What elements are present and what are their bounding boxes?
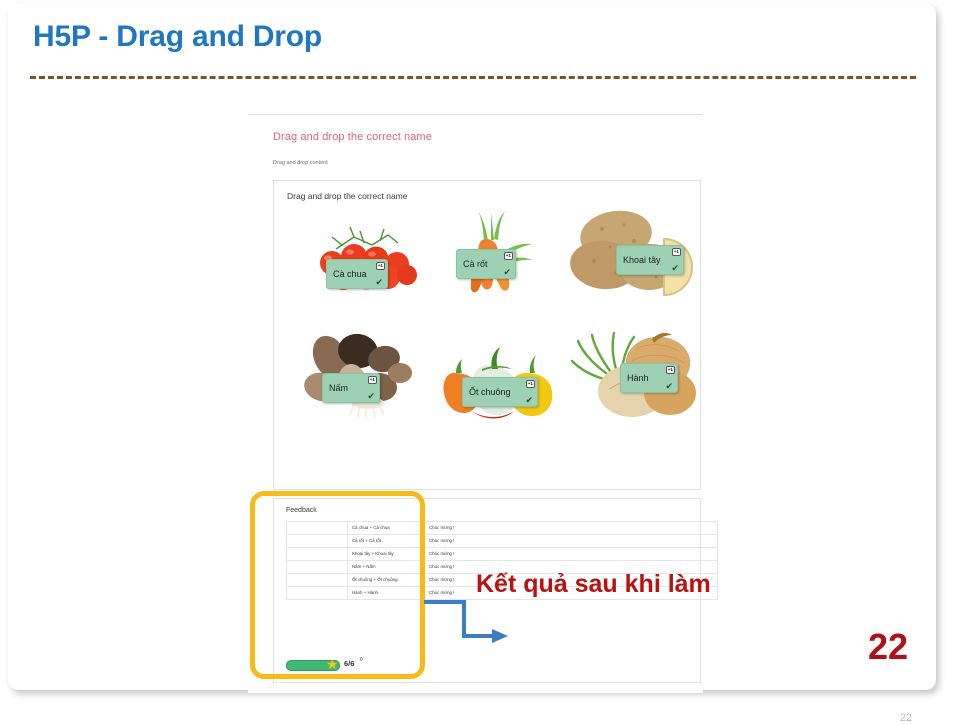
drop-label-text: Khoai tây [623, 255, 661, 265]
drop-label-text: Ốt chuông [469, 387, 511, 397]
feedback-message: Chúc mừng ! [425, 522, 718, 535]
slide-card: H5P - Drag and Drop Drag and drop the co… [8, 4, 936, 690]
title-divider [30, 76, 916, 79]
score-badge: +1 [672, 248, 681, 256]
drop-label-text: Cà chua [333, 269, 367, 279]
drop-label-bell-peppers[interactable]: Ốt chuông +1 ✔ [462, 377, 538, 407]
drop-label-carrots[interactable]: Cà rốt +1 ✔ [456, 249, 516, 279]
drop-zone-potatoes[interactable]: Khoai tây +1 ✔ [564, 203, 699, 301]
feedback-message: Chúc mừng ! [425, 535, 718, 548]
drop-label-potatoes[interactable]: Khoai tây +1 ✔ [616, 245, 684, 275]
score-badge: +1 [368, 376, 377, 384]
annotation-text: Kết quả sau khi làm [476, 570, 711, 599]
drop-zone-onions[interactable]: Hành +1 ✔ [566, 327, 698, 421]
score-badge: +1 [666, 366, 675, 374]
feedback-message: Chúc mừng ! [425, 548, 718, 561]
drop-label-text: Nấm [329, 383, 348, 393]
page-title: H5P - Drag and Drop [33, 20, 322, 54]
page-number-footer: 22 [900, 712, 912, 724]
drop-label-text: Hành [627, 373, 649, 383]
highlight-rectangle [250, 491, 425, 679]
drop-zone-carrots[interactable]: Cà rốt +1 ✔ [442, 211, 562, 299]
page-number: 22 [868, 626, 908, 668]
score-badge: +1 [376, 262, 385, 270]
check-icon: ✔ [375, 278, 383, 287]
h5p-heading: Drag and drop the correct name [273, 131, 432, 143]
drop-zone-tomatoes[interactable]: Cà chua +1 ✔ [302, 219, 432, 299]
check-icon: ✔ [671, 264, 679, 273]
drop-zone-bell-peppers[interactable]: Ốt chuông +1 ✔ [436, 339, 564, 423]
check-icon: ✔ [367, 392, 375, 401]
drop-zone-mushrooms[interactable]: Nấm +1 ✔ [300, 329, 428, 421]
drop-label-text: Cà rốt [463, 259, 488, 269]
check-icon: ✔ [503, 268, 511, 277]
check-icon: ✔ [665, 382, 673, 391]
drag-drop-task-box: Drag and drop the correct name [273, 180, 701, 490]
drop-label-tomatoes[interactable]: Cà chua +1 ✔ [326, 259, 388, 289]
check-icon: ✔ [525, 396, 533, 405]
task-title: Drag and drop the correct name [287, 191, 407, 201]
drop-label-onions[interactable]: Hành +1 ✔ [620, 363, 678, 393]
h5p-subtitle: Drag and drop content [273, 160, 328, 166]
drop-label-mushrooms[interactable]: Nấm +1 ✔ [322, 373, 380, 403]
score-badge: +1 [526, 380, 535, 388]
score-badge: +1 [504, 252, 513, 260]
